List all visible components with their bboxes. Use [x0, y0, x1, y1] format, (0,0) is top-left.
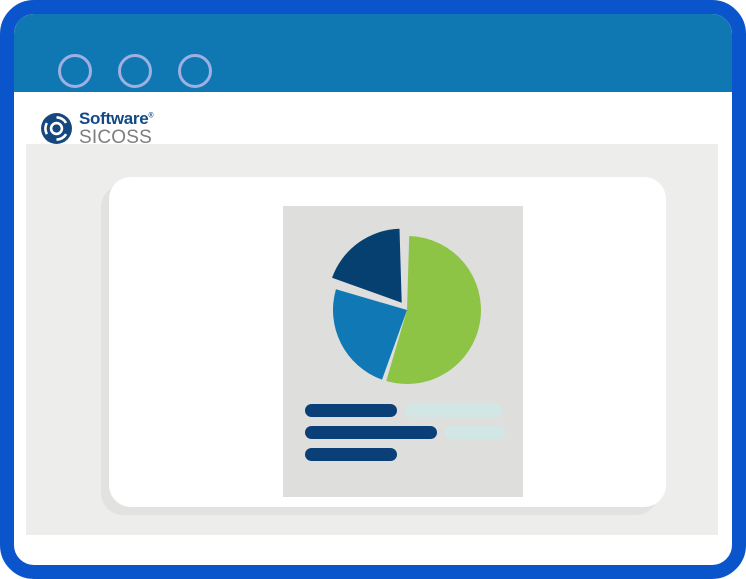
- pie-chart[interactable]: [295, 218, 511, 394]
- text-line-row: [305, 448, 505, 461]
- brand-logo[interactable]: Software® SICOSS: [40, 109, 153, 147]
- window-dot-minimize[interactable]: [118, 54, 152, 88]
- text-bar-dark: [305, 426, 437, 439]
- text-placeholder-lines: [305, 404, 505, 470]
- window-dot-close[interactable]: [58, 54, 92, 88]
- page-canvas: [26, 144, 718, 535]
- text-bar-dark: [305, 448, 397, 461]
- content-card: [109, 177, 666, 507]
- text-bar-pale: [445, 426, 505, 439]
- text-bar-dark: [305, 404, 397, 417]
- brand-line-top: Software®: [79, 110, 153, 127]
- report-panel: [283, 206, 523, 497]
- aperture-icon: [40, 112, 73, 145]
- text-bar-pale: [405, 404, 503, 417]
- brand-line-top-text: Software: [79, 109, 148, 128]
- window-dot-maximize[interactable]: [178, 54, 212, 88]
- text-line-row: [305, 426, 505, 439]
- brand-wordmark: Software® SICOSS: [79, 109, 153, 147]
- registered-trademark-icon: ®: [148, 112, 153, 119]
- browser-title-bar: [14, 14, 732, 92]
- text-line-row: [305, 404, 505, 417]
- brand-header-bar: Software® SICOSS: [14, 92, 732, 144]
- browser-window-frame: Software® SICOSS: [0, 0, 746, 579]
